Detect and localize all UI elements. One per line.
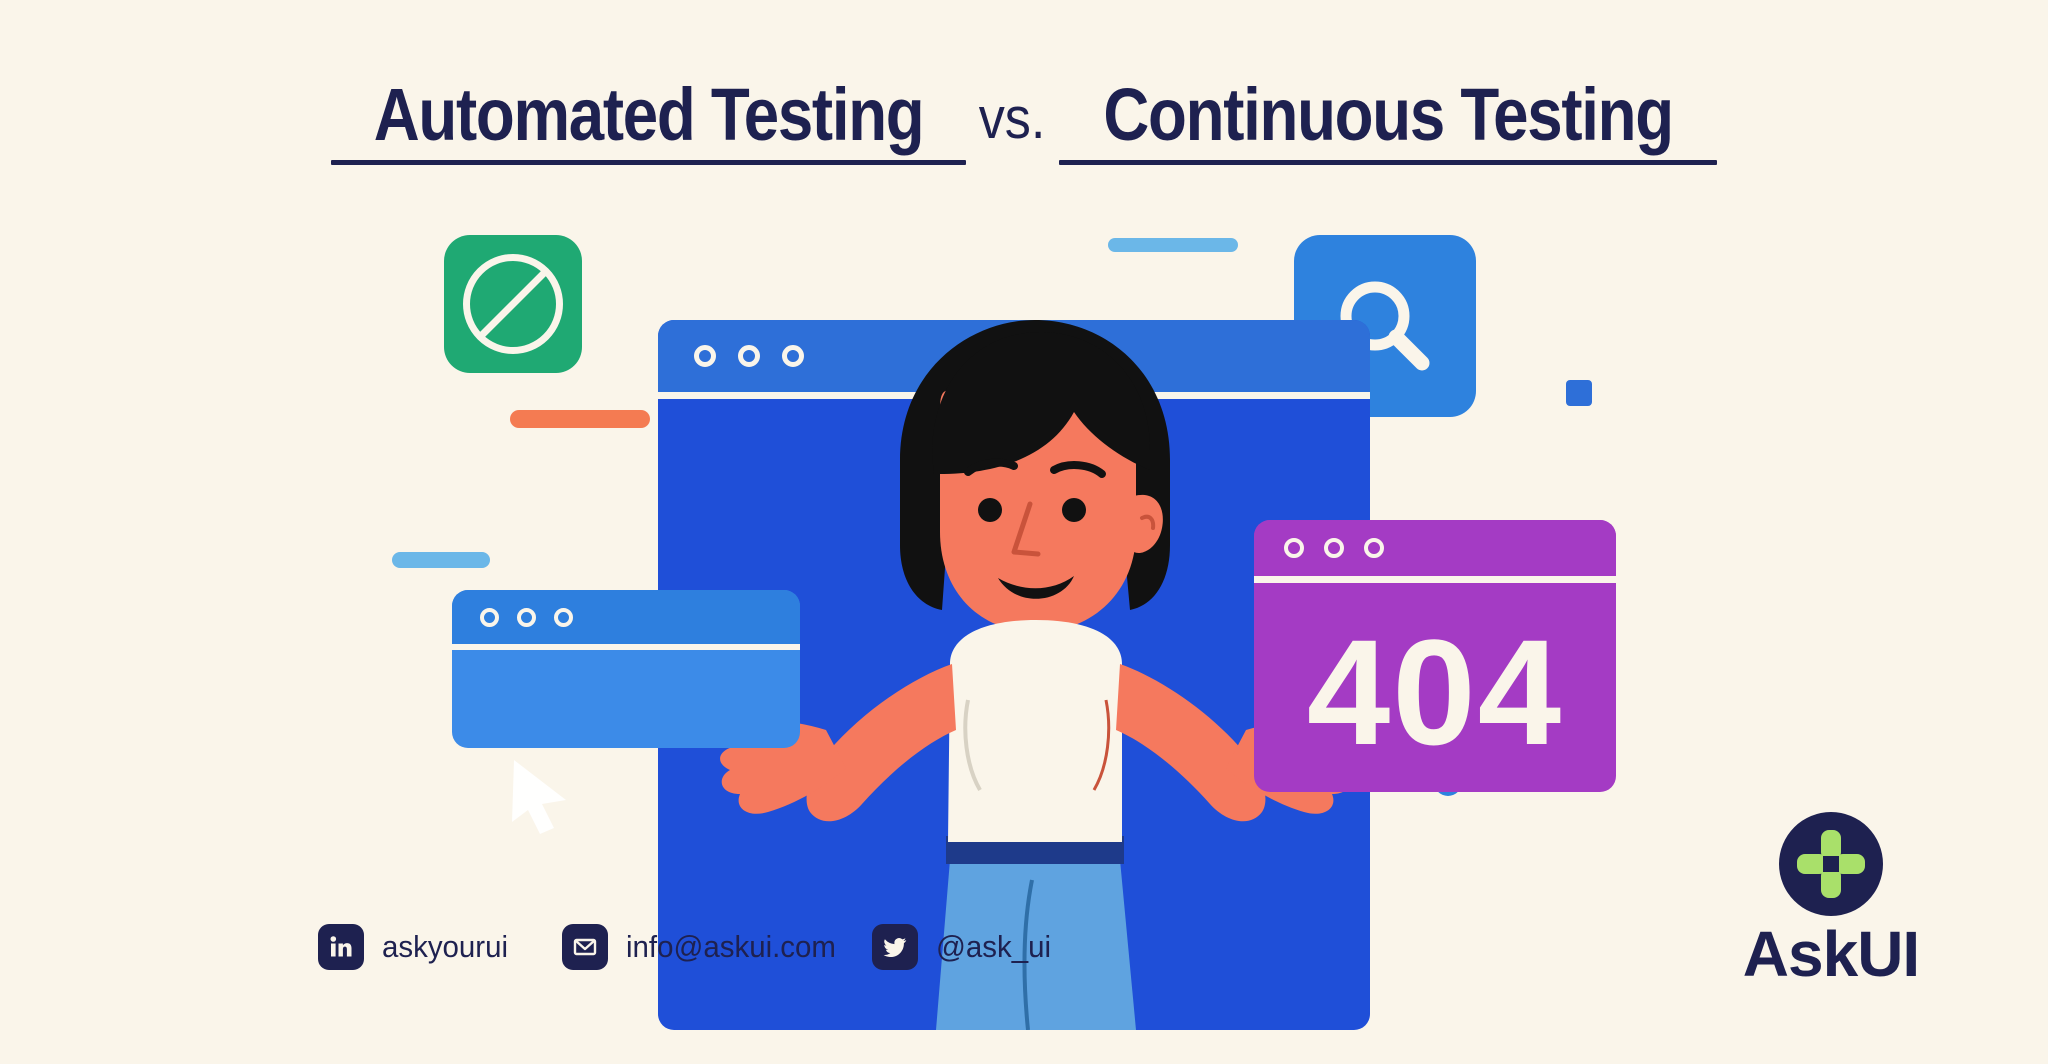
window-dot[interactable] [554,608,573,627]
contact-label: @ask_ui [936,929,1051,965]
brand-name: AskUI [1706,922,1956,986]
title-separator: vs. [973,85,1052,152]
window-controls [1254,520,1616,576]
twitter-icon [872,924,918,970]
contact-linkedin[interactable]: askyourui [318,924,515,970]
askui-cross-logo-icon [1779,812,1883,916]
window-dot[interactable] [1364,538,1384,558]
brand-logo[interactable]: AskUI [1706,812,1956,986]
cursor-arrow-icon [508,756,572,834]
window-dot[interactable] [517,608,536,627]
secondary-browser-window[interactable] [452,590,800,748]
title-part-2: Continuous Testing [1057,78,1719,165]
hero-illustration: 404 [0,180,2048,880]
title-part-1: Automated Testing [329,78,968,165]
contact-label: info@askui.com [626,929,836,965]
email-icon [562,924,608,970]
page-title: Automated Testing vs. Continuous Testing [0,78,2048,165]
contact-email[interactable]: info@askui.com [562,924,847,970]
light-blue-bar-top-decoration [1108,238,1238,252]
status-code-window[interactable]: 404 [1254,520,1616,792]
contact-twitter[interactable]: @ask_ui [872,924,1057,970]
orange-bar-decoration [510,410,650,428]
poster-canvas: Automated Testing vs. Continuous Testing [0,0,2048,1064]
window-controls [452,590,800,644]
blue-square-right-decoration [1566,380,1592,406]
window-dot[interactable] [480,608,499,627]
linkedin-icon [318,924,364,970]
window-dot[interactable] [1324,538,1344,558]
contact-label: askyourui [382,929,508,965]
window-dot[interactable] [1284,538,1304,558]
status-code-label: 404 [1307,617,1563,767]
blocked-tile[interactable] [444,235,582,373]
prohibited-icon [463,254,563,354]
light-blue-bar-left-decoration [392,552,490,568]
